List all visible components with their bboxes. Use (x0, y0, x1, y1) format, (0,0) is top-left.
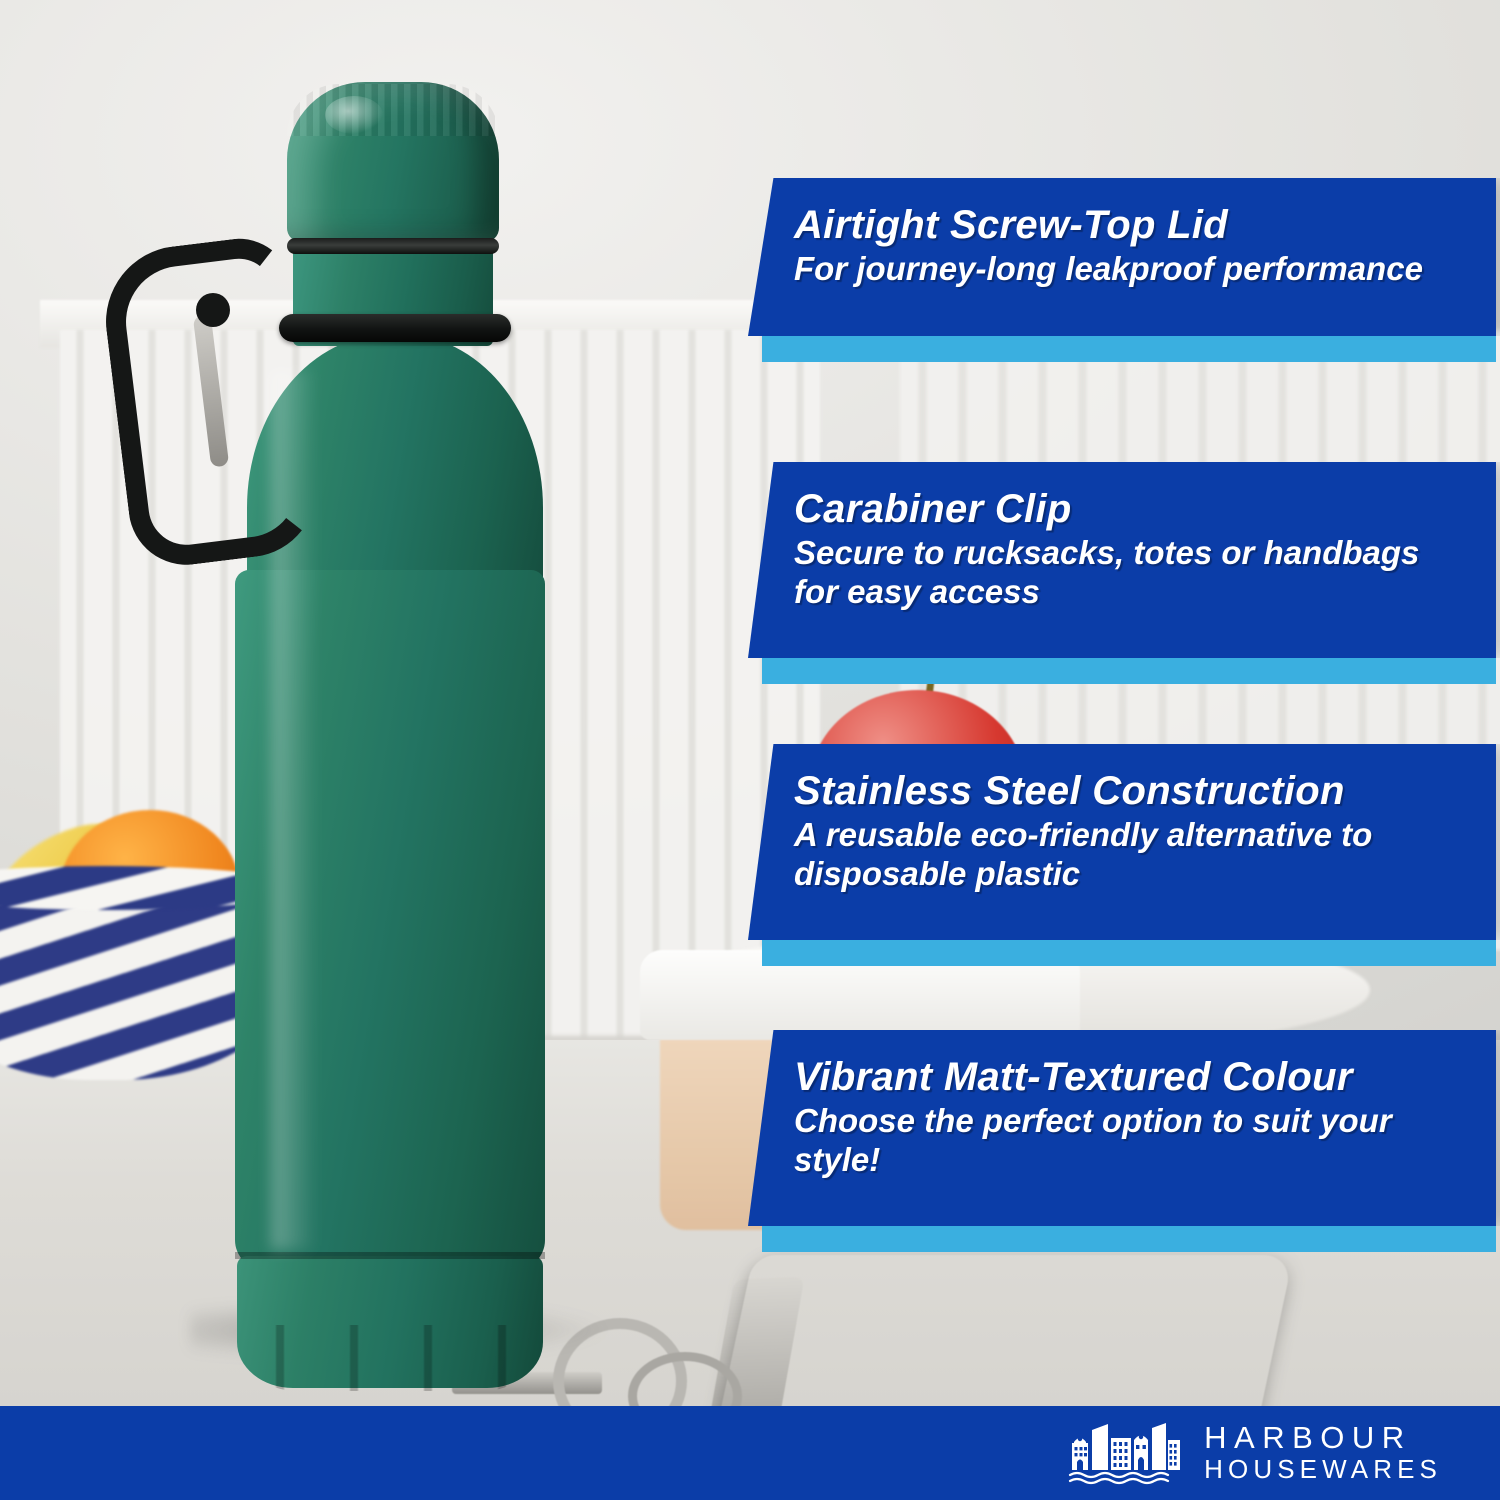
callout-title: Vibrant Matt-Textured Colour (794, 1056, 1462, 1098)
callout-subtitle: Secure to rucksacks, totes or handbags f… (794, 534, 1462, 611)
brand-name-line1: HARBOUR (1204, 1422, 1442, 1455)
bottle-cap-seal-ring (287, 238, 499, 254)
callout-accent-bar (762, 1226, 1496, 1252)
harbour-skyline-icon (1066, 1418, 1182, 1488)
bottle-cap-ridges (287, 84, 499, 136)
callout-subtitle: Choose the perfect option to suit your s… (794, 1102, 1462, 1179)
carabiner-nose (196, 293, 230, 327)
smartphone (716, 1255, 1293, 1430)
callout-panel: Stainless Steel Construction A reusable … (748, 744, 1496, 940)
callout-subtitle: For journey-long leakproof performance (794, 250, 1462, 289)
callout-panel: Airtight Screw-Top Lid For journey-long … (748, 178, 1496, 336)
brand-name-line2: HOUSEWARES (1204, 1455, 1442, 1484)
bottle-cap-highlight (325, 96, 383, 134)
bottle-silicone-ring (279, 314, 511, 342)
callout-accent-bar (762, 658, 1496, 684)
brand-logo: HARBOUR HOUSEWARES (1066, 1418, 1442, 1488)
product-infographic: Airtight Screw-Top Lid For journey-long … (0, 0, 1500, 1500)
callout-title: Stainless Steel Construction (794, 770, 1462, 812)
bottle-base-flutes (241, 1325, 539, 1391)
brand-wordmark: HARBOUR HOUSEWARES (1204, 1422, 1442, 1484)
callout-title: Airtight Screw-Top Lid (794, 204, 1462, 246)
feature-callout-carabiner-clip: Carabiner Clip Secure to rucksacks, tote… (748, 462, 1496, 658)
feature-callout-vibrant-matt-textured-colour: Vibrant Matt-Textured Colour Choose the … (748, 1030, 1496, 1226)
carabiner-clip (110, 235, 310, 535)
callout-accent-bar (762, 336, 1496, 362)
bottle-base-seam (235, 1252, 545, 1259)
feature-callout-airtight-screw-top-lid: Airtight Screw-Top Lid For journey-long … (748, 178, 1496, 336)
callout-panel: Carabiner Clip Secure to rucksacks, tote… (748, 462, 1496, 658)
feature-callout-stainless-steel-construction: Stainless Steel Construction A reusable … (748, 744, 1496, 940)
callout-subtitle: A reusable eco-friendly alternative to d… (794, 816, 1462, 893)
callout-title: Carabiner Clip (794, 488, 1462, 530)
callout-accent-bar (762, 940, 1496, 966)
callout-panel: Vibrant Matt-Textured Colour Choose the … (748, 1030, 1496, 1226)
